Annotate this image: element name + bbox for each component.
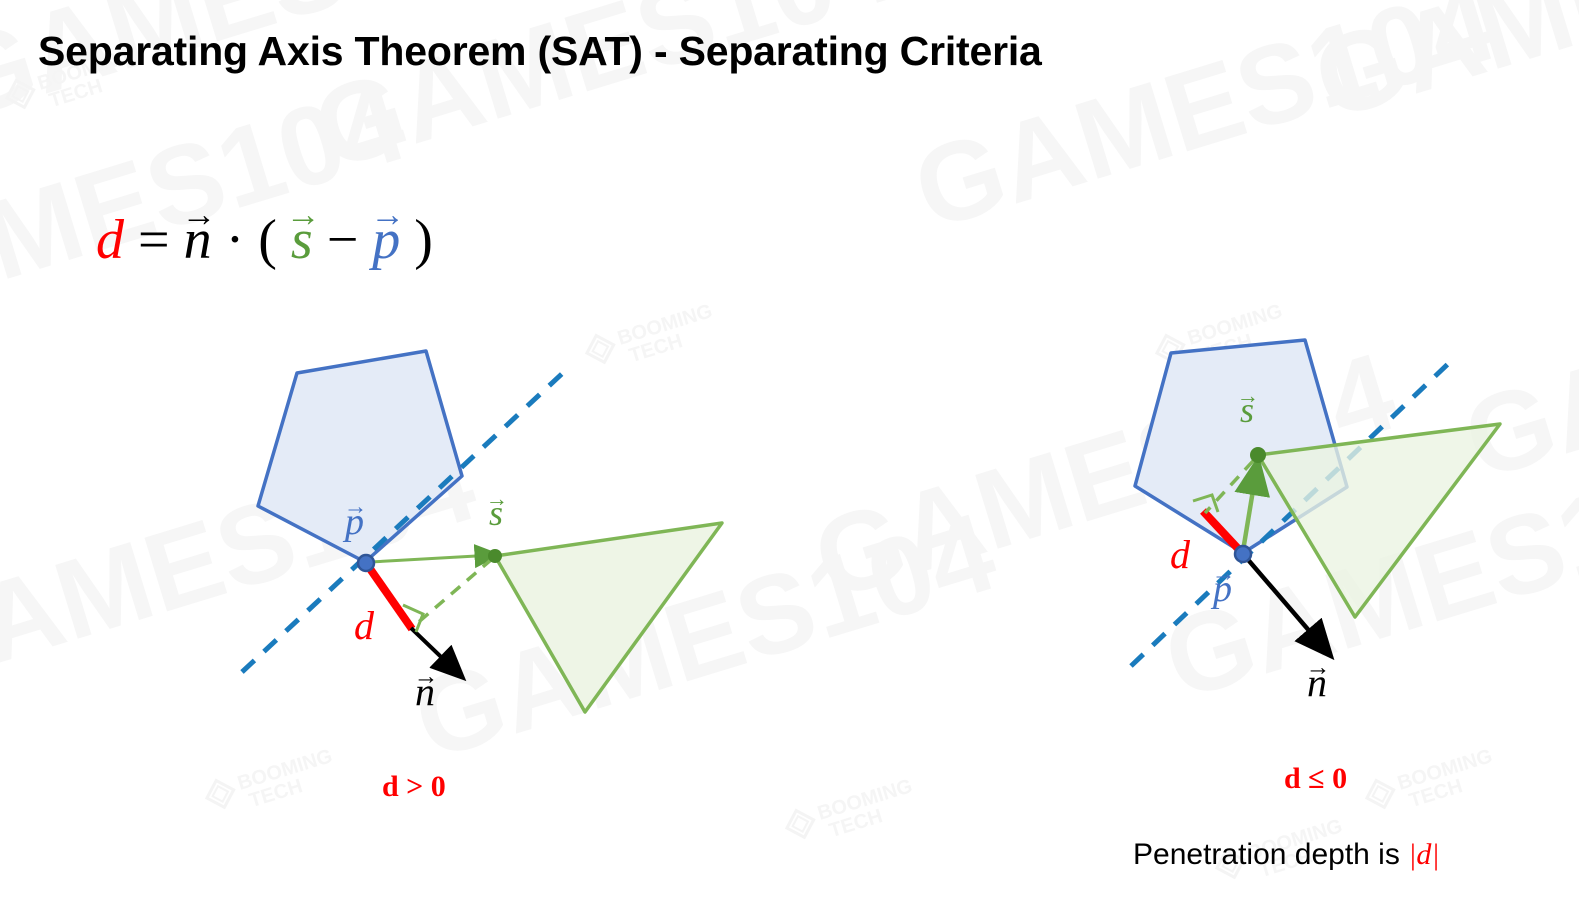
triangle-shape-right	[1258, 424, 1500, 617]
formula-lparen: (	[258, 209, 277, 271]
right-angle-mark-left	[403, 605, 423, 632]
vector-arrow-icon: →	[182, 198, 217, 233]
vector-arrow-icon: →	[1306, 656, 1331, 681]
label-p-left: →p	[345, 503, 364, 541]
vector-arrow-icon: →	[370, 198, 405, 233]
svg-text:TECH: TECH	[1407, 775, 1466, 812]
svg-text:GAMES104: GAMES104	[1450, 209, 1579, 503]
normal-vector-right	[1244, 555, 1330, 655]
svg-text:TECH: TECH	[47, 75, 106, 112]
point-s-dot-right	[1250, 447, 1266, 463]
svg-text:BOOMING: BOOMING	[1395, 745, 1495, 795]
caption-right: d ≤ 0	[1284, 762, 1347, 796]
slide-canvas: GAMES104 GAMES104 GAMES104 GAMES104 GAME…	[0, 0, 1579, 899]
penetration-depth-note-math: |d|	[1408, 838, 1440, 871]
formula-equals: =	[138, 209, 170, 271]
vector-p-to-s-left	[370, 555, 494, 562]
distance-segment-right	[1203, 511, 1243, 554]
label-n-left: →n	[415, 672, 435, 712]
svg-text:BOOMING: BOOMING	[1185, 300, 1285, 350]
separating-axis-left	[242, 370, 566, 672]
point-p-dot-right	[1235, 546, 1251, 562]
vector-arrow-icon: →	[1237, 385, 1259, 407]
caption-left: d > 0	[382, 770, 446, 804]
vector-arrow-icon: →	[344, 496, 368, 520]
label-s-left: →s	[489, 495, 503, 531]
point-s-dot-left	[488, 549, 502, 563]
label-n-right: →n	[1307, 663, 1327, 703]
pentagon-shape-right	[1135, 340, 1347, 553]
svg-text:BOOMING: BOOMING	[235, 745, 335, 795]
formula-d: d	[96, 208, 124, 272]
formula-s: →s	[291, 208, 313, 272]
projection-dashed-right	[1205, 461, 1253, 513]
formula-dot: ·	[226, 209, 245, 271]
vector-arrow-icon: →	[286, 198, 321, 233]
vector-p-to-s-right	[1243, 466, 1257, 551]
svg-text:BOOMING: BOOMING	[615, 300, 715, 350]
penetration-depth-note: Penetration depth is |d|	[1133, 838, 1440, 872]
vector-arrow-icon: →	[414, 665, 439, 690]
svg-text:BOOMING: BOOMING	[815, 775, 915, 825]
label-p-right: →p	[1213, 570, 1232, 608]
label-d-right: d	[1170, 535, 1190, 575]
svg-text:TECH: TECH	[827, 805, 886, 842]
svg-text:GAMES104: GAMES104	[1300, 0, 1579, 143]
svg-text:GAMES104: GAMES104	[800, 329, 1408, 623]
formula-n: →n	[184, 208, 212, 272]
svg-text:TECH: TECH	[1197, 330, 1256, 367]
triangle-shape-left	[495, 523, 722, 712]
projection-dashed-left	[414, 559, 492, 626]
label-s-right: →s	[1240, 392, 1254, 428]
point-p-dot-left	[358, 555, 374, 571]
svg-text:TECH: TECH	[627, 330, 686, 367]
formula-rparen: )	[414, 209, 433, 271]
separating-axis-right	[1131, 362, 1450, 666]
vector-arrow-icon: →	[486, 488, 508, 510]
page-title: Separating Axis Theorem (SAT) - Separati…	[38, 28, 1042, 75]
label-d-left: d	[354, 606, 374, 646]
formula-d-equals-n-dot-s-minus-p: d = →n · ( →s − →p )	[96, 208, 433, 272]
formula-minus: −	[327, 209, 359, 271]
penetration-depth-note-text: Penetration depth is	[1133, 838, 1408, 871]
formula-p: →p	[372, 208, 400, 272]
right-angle-mark-right	[1193, 495, 1218, 512]
vector-arrow-icon: →	[1212, 563, 1236, 587]
svg-text:TECH: TECH	[247, 775, 306, 812]
